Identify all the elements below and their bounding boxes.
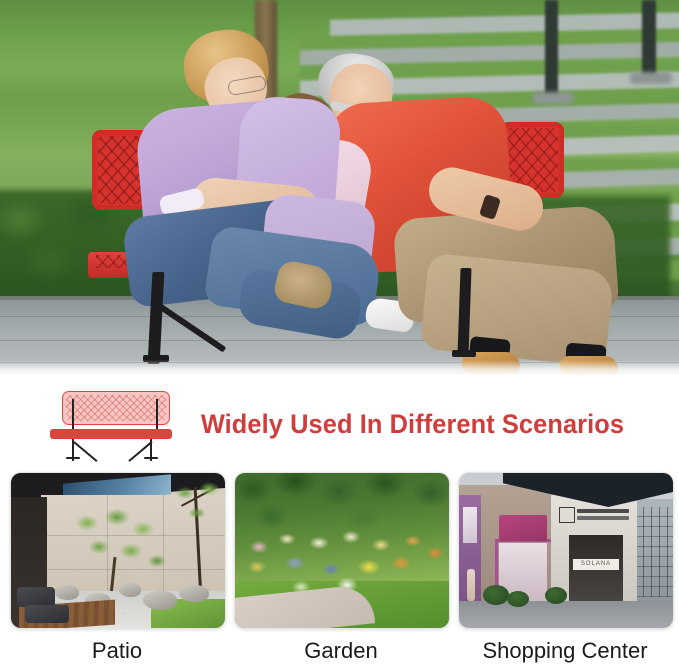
scenario-card-shopping-center[interactable]: SOLANA Shopping Center xyxy=(458,472,672,664)
mall-logo-text xyxy=(577,509,629,513)
post-base xyxy=(630,72,672,84)
card-label-patio: Patio xyxy=(10,638,224,664)
lounge-chair xyxy=(17,587,55,607)
hero-bottom-fade xyxy=(0,360,679,376)
plaza-paving xyxy=(459,601,673,628)
scenario-card-garden[interactable]: Garden xyxy=(234,472,448,664)
lounge-chair xyxy=(25,605,69,623)
glass-archway xyxy=(635,507,673,597)
garden-thumbnail[interactable] xyxy=(234,472,450,629)
product-infographic-page: Widely Used In Different Scenarios xyxy=(0,0,679,670)
bench-icon xyxy=(46,391,176,457)
patio-thumbnail[interactable] xyxy=(10,472,226,629)
headline-banner: Widely Used In Different Scenarios xyxy=(0,376,679,472)
courtyard-tree xyxy=(69,507,165,581)
park-post xyxy=(545,0,558,98)
mall-logo-icon xyxy=(559,507,575,523)
bench-foot xyxy=(452,350,476,357)
park-post xyxy=(642,0,656,78)
shopping-center-thumbnail[interactable]: SOLANA xyxy=(458,472,674,629)
scenario-cards: Patio Garden xyxy=(0,472,679,664)
card-label-shopping-center: Shopping Center xyxy=(458,638,672,664)
post-base xyxy=(533,92,573,104)
mannequin xyxy=(467,569,475,601)
hero-lifestyle-image xyxy=(0,0,679,376)
section-headline: Widely Used In Different Scenarios xyxy=(191,409,664,440)
store-sign xyxy=(499,515,547,541)
storefront-window xyxy=(463,507,477,543)
scenario-card-patio[interactable]: Patio xyxy=(10,472,224,664)
entry-sign-text: SOLANA xyxy=(573,559,619,570)
entry-sign: SOLANA xyxy=(573,559,619,570)
card-label-garden: Garden xyxy=(234,638,448,664)
